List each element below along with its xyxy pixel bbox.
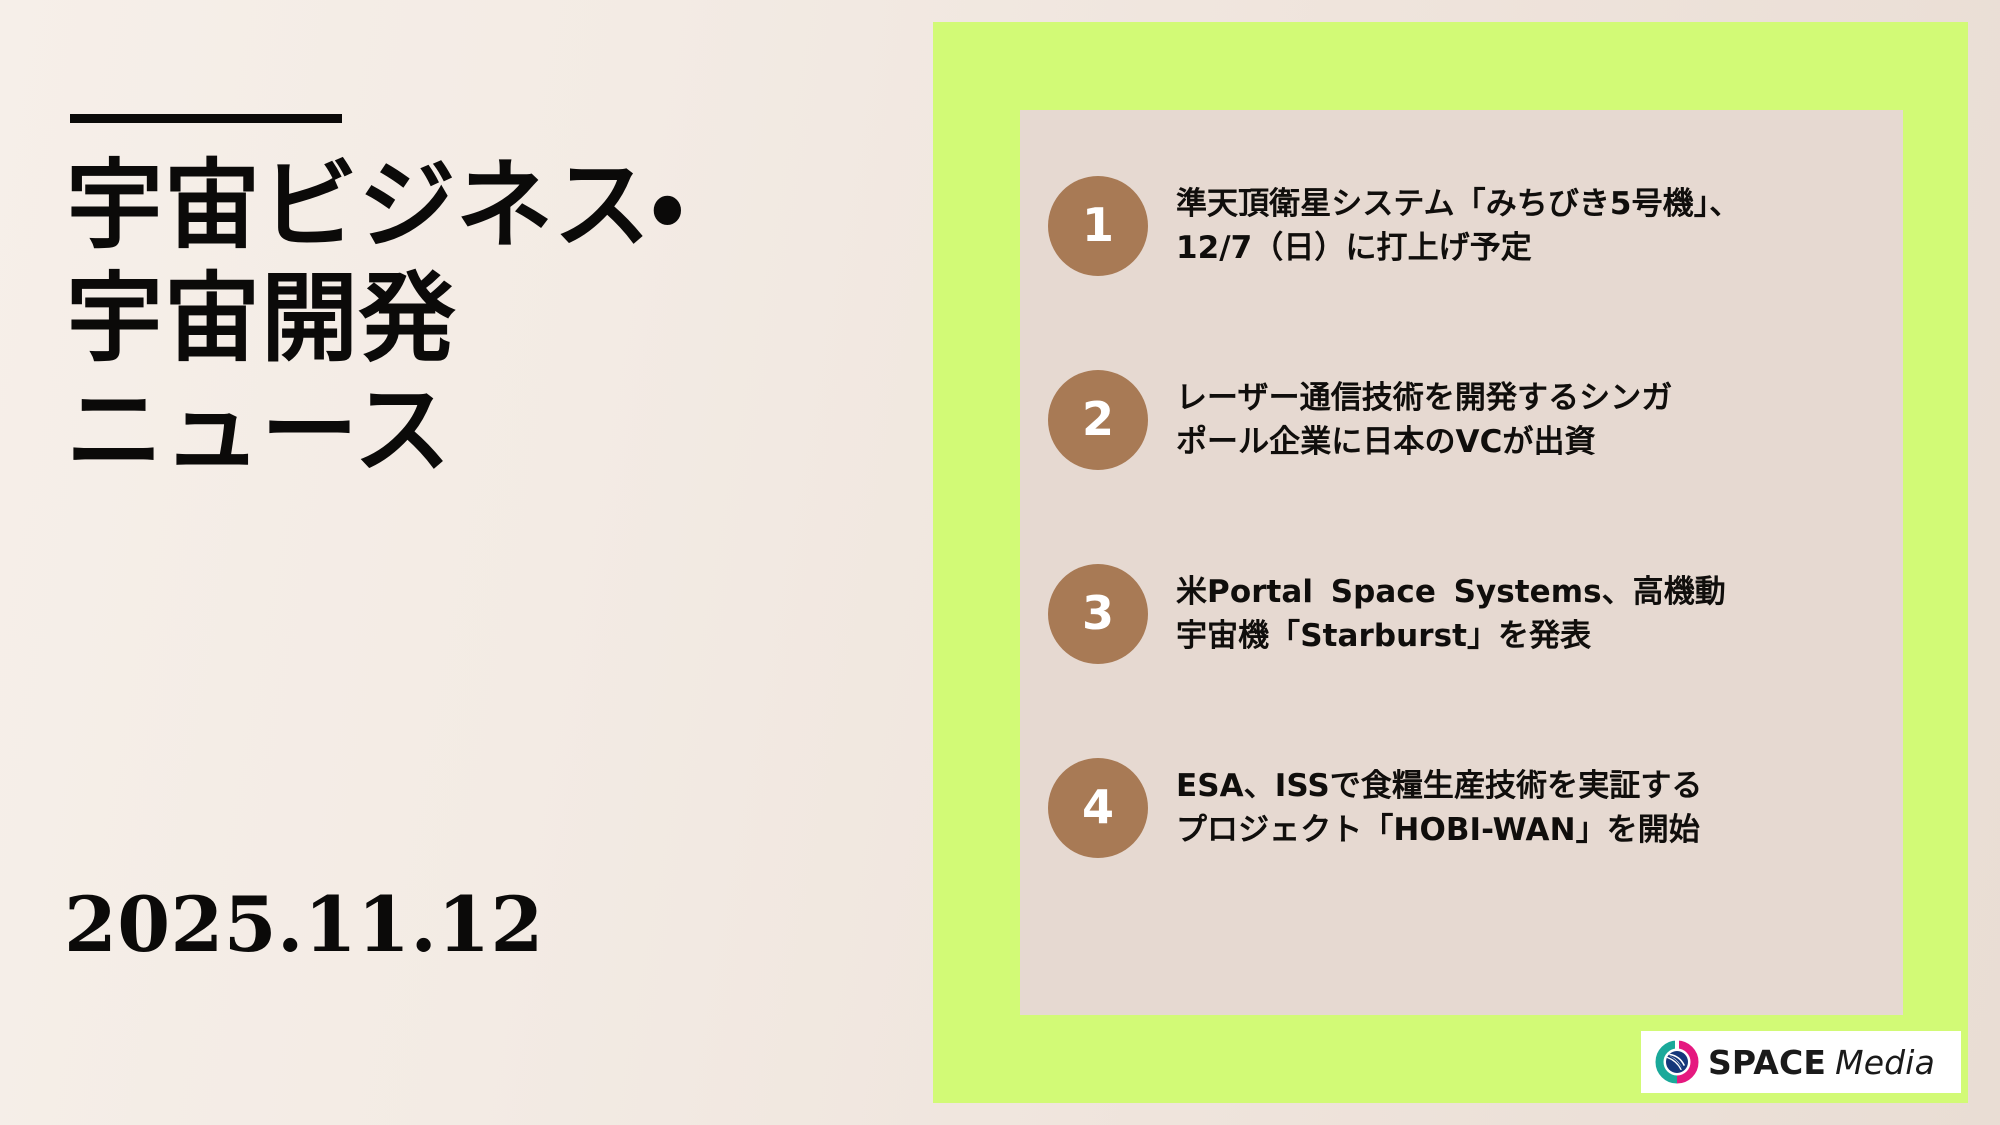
item-number-badge: 3 bbox=[1048, 564, 1148, 664]
list-item[interactable]: 3 米Portal Space Systems、高機動 宇宙機「Starburs… bbox=[1048, 528, 1873, 700]
brand-logo: SPACE Media bbox=[1641, 1031, 1961, 1093]
list-item[interactable]: 4 ESA、ISSで食糧生産技術を実証する プロジェクト「HOBI-WAN」を開… bbox=[1048, 722, 1873, 894]
news-headline: ESA、ISSで食糧生産技術を実証する プロジェクト「HOBI-WAN」を開始 bbox=[1176, 764, 1702, 852]
list-item[interactable]: 2 レーザー通信技術を開発するシンガ ポール企業に日本のVCが出資 bbox=[1048, 334, 1873, 506]
page-title: 宇宙ビジネス・ 宇宙開発 ニュース bbox=[66, 150, 926, 488]
left-panel: 宇宙ビジネス・ 宇宙開発 ニュース 2025.11.12 bbox=[0, 0, 933, 1125]
title-rule bbox=[70, 114, 342, 123]
publish-date: 2025.11.12 bbox=[64, 880, 544, 969]
list-item[interactable]: 1 準天頂衛星システム「みちびき5号機」、 12/7（日）に打上げ予定 bbox=[1048, 140, 1873, 312]
news-headline: 準天頂衛星システム「みちびき5号機」、 12/7（日）に打上げ予定 bbox=[1176, 182, 1740, 270]
news-headline: レーザー通信技術を開発するシンガ ポール企業に日本のVCが出資 bbox=[1176, 376, 1672, 464]
item-number-badge: 1 bbox=[1048, 176, 1148, 276]
item-number-badge: 2 bbox=[1048, 370, 1148, 470]
news-headline: 米Portal Space Systems、高機動 宇宙機「Starburst」… bbox=[1176, 570, 1726, 658]
brand-wordmark: SPACE Media bbox=[1708, 1046, 1935, 1079]
brand-name-space: SPACE bbox=[1708, 1046, 1826, 1079]
space-media-orb-icon bbox=[1655, 1040, 1699, 1084]
news-card-canvas: 宇宙ビジネス・ 宇宙開発 ニュース 2025.11.12 1 準天頂衛星システム… bbox=[0, 0, 2000, 1125]
brand-name-media: Media bbox=[1835, 1046, 1935, 1079]
item-number-badge: 4 bbox=[1048, 758, 1148, 858]
news-list: 1 準天頂衛星システム「みちびき5号機」、 12/7（日）に打上げ予定 2 レー… bbox=[1020, 110, 1903, 1015]
